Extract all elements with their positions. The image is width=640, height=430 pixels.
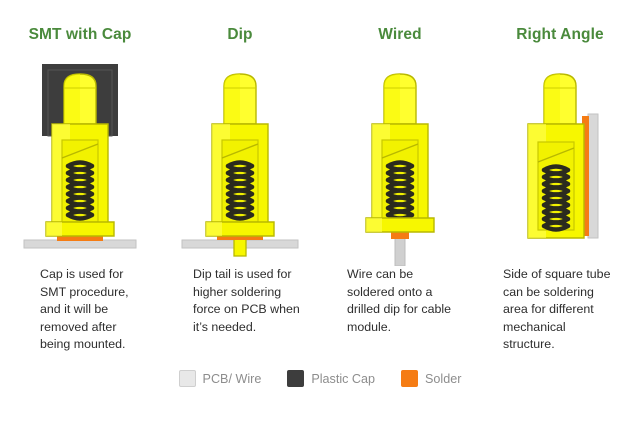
legend-item-solder: Solder bbox=[401, 370, 461, 387]
legend-item-pcb-wire: PCB/ Wire bbox=[179, 370, 262, 387]
connector-column-wired: Wired bbox=[320, 26, 480, 354]
column-caption-smt-with-cap: Cap is used for SMT procedure, and it wi… bbox=[0, 266, 160, 354]
plastic-cap-swatch bbox=[287, 370, 304, 387]
column-title-dip: Dip bbox=[160, 26, 320, 46]
legend-label-solder: Solder bbox=[425, 372, 461, 386]
illustration-wrapper-right-angle bbox=[480, 54, 640, 266]
connector-comparison-diagram: SMT with Cap bbox=[0, 0, 640, 430]
right-angle-connector-illustration bbox=[480, 54, 640, 266]
legend: PCB/ Wire Plastic Cap Solder bbox=[0, 370, 640, 387]
connector-column-smt-with-cap: SMT with Cap bbox=[0, 26, 160, 354]
illustration-wrapper-smt-with-cap bbox=[0, 54, 160, 266]
illustration-wrapper-wired bbox=[320, 54, 480, 266]
column-title-right-angle: Right Angle bbox=[480, 26, 640, 46]
legend-item-plastic-cap: Plastic Cap bbox=[287, 370, 375, 387]
connector-columns: SMT with Cap bbox=[0, 0, 640, 354]
legend-label-plastic-cap: Plastic Cap bbox=[311, 372, 375, 386]
connector-column-right-angle: Right Angle bbox=[480, 26, 640, 354]
column-title-smt-with-cap: SMT with Cap bbox=[0, 26, 160, 46]
column-caption-wired: Wire can be soldered onto a drilled dip … bbox=[320, 266, 480, 336]
pcb-wire-swatch bbox=[179, 370, 196, 387]
column-caption-right-angle: Side of square tube can be soldering are… bbox=[480, 266, 640, 354]
legend-label-pcb-wire: PCB/ Wire bbox=[203, 372, 262, 386]
smt-with-cap-connector-illustration bbox=[0, 54, 160, 266]
dip-connector-illustration bbox=[160, 54, 320, 266]
illustration-wrapper-dip bbox=[160, 54, 320, 266]
column-title-wired: Wired bbox=[320, 26, 480, 46]
wired-connector-illustration bbox=[320, 54, 480, 266]
connector-column-dip: Dip bbox=[160, 26, 320, 354]
column-caption-dip: Dip tail is used for higher soldering fo… bbox=[160, 266, 320, 336]
solder-swatch bbox=[401, 370, 418, 387]
